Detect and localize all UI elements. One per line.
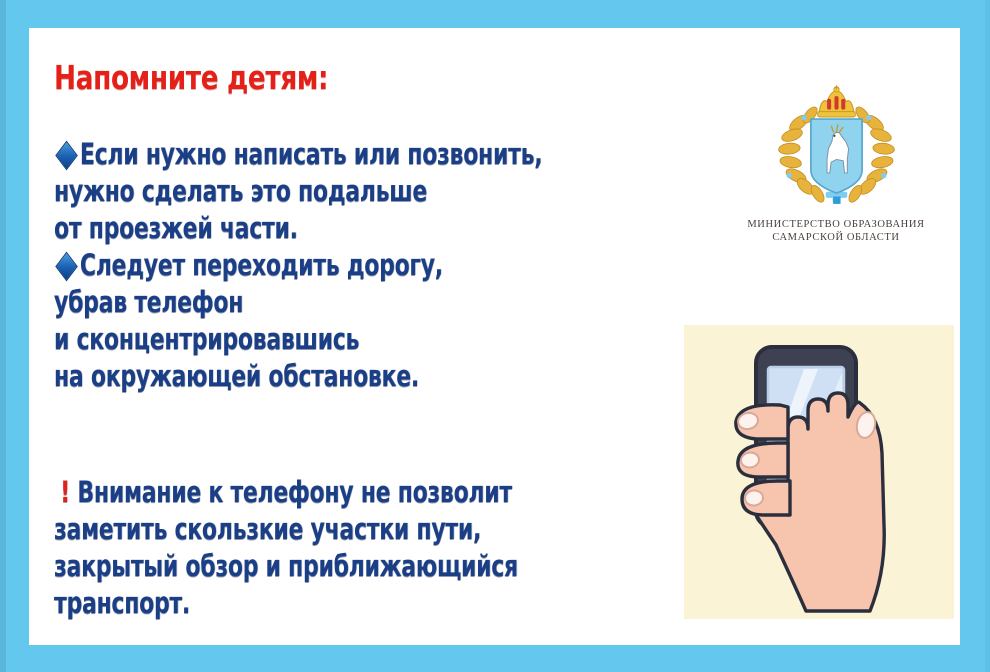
bullet-line: от проезжей части. <box>54 210 556 247</box>
diamond-bullet-icon <box>55 252 78 282</box>
hand-phone-illustration <box>684 325 954 619</box>
bullet-text-block: Если нужно написать или позвонить, нужно… <box>54 136 714 395</box>
bullet-line-text: и сконцентрировавшись <box>54 322 359 356</box>
diamond-bullet-icon <box>55 141 78 171</box>
bullet-line-text: от проезжей части. <box>54 211 298 245</box>
bullet-line: нужно сделать это подальше <box>54 173 556 210</box>
bullet-line-text: убрав телефон <box>54 285 243 319</box>
warning-line-text: транспорт. <box>54 586 190 620</box>
bullet-line-text: нужно сделать это подальше <box>54 174 427 208</box>
bullet-line: и сконцентрировавшись <box>54 321 556 358</box>
warning-line: !Внимание к телефону не позволит <box>54 474 556 511</box>
poster-card: Напомните детям: Если нужно написать или… <box>29 28 960 645</box>
bullet-line-text: Если нужно написать или позвонить, <box>80 137 542 171</box>
bullet-line-text: на окружающей обстановке. <box>54 359 419 393</box>
warning-line-text: Внимание к телефону не позволит <box>77 475 511 509</box>
emblem-caption: МИНИСТЕРСТВО ОБРАЗОВАНИЯ САМАРСКОЙ ОБЛАС… <box>722 218 950 244</box>
frame-edge-right <box>985 0 990 672</box>
ministry-emblem: МИНИСТЕРСТВО ОБРАЗОВАНИЯ САМАРСКОЙ ОБЛАС… <box>722 84 950 274</box>
warning-line: транспорт. <box>54 585 556 622</box>
exclamation-icon: ! <box>54 475 77 509</box>
hand-holding-smartphone-icon <box>684 325 954 619</box>
samara-coat-of-arms-icon <box>769 84 904 212</box>
warning-line-text: заметить скользкие участки пути, <box>54 512 481 546</box>
bullet-line: на окружающей обстановке. <box>54 358 556 395</box>
bullet-line: убрав телефон <box>54 284 556 321</box>
poster: Напомните детям: Если нужно написать или… <box>0 0 990 672</box>
bullet-line-text: Следует переходить дорогу, <box>80 248 443 282</box>
bullet-line: Следует переходить дорогу, <box>54 247 556 284</box>
warning-line: заметить скользкие участки пути, <box>54 511 556 548</box>
warning-text-block: !Внимание к телефону не позволит заметит… <box>54 474 714 622</box>
warning-line-text: закрытый обзор и приближающийся <box>54 549 518 583</box>
frame-edge-left <box>0 0 6 672</box>
emblem-caption-line-1: МИНИСТЕРСТВО ОБРАЗОВАНИЯ <box>722 218 950 231</box>
emblem-caption-line-2: САМАРСКОЙ ОБЛАСТИ <box>722 231 950 244</box>
page-title: Напомните детям: <box>54 58 328 97</box>
bullet-line: Если нужно написать или позвонить, <box>54 136 556 173</box>
warning-line: закрытый обзор и приближающийся <box>54 548 556 585</box>
